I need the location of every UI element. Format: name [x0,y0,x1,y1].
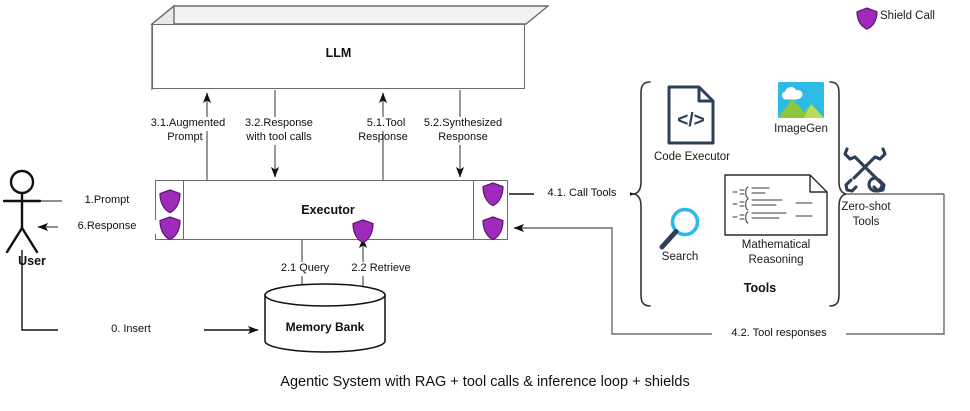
flow-label-tool-response-line2: Response [347,131,419,145]
flow-label-insert: 0. Insert [58,323,204,337]
memory-bank-node: Memory Bank [265,284,385,350]
legend: Shield Call [856,6,966,30]
image-gen-label: ImageGen [758,122,844,136]
crossed-wrenches-icon [836,140,894,196]
flow-label-synthesized-response-line2: Response [414,131,512,145]
formula-document-icon [724,174,828,236]
diagram-canvas: LLM Executor Memory Bank User 1.Prompt 6… [0,0,970,411]
user-label: User [0,254,64,268]
flow-label-response-tool-calls-line2: with tool calls [232,131,326,145]
flow-label-augmented-prompt-line2: Prompt [140,131,230,145]
diagram-caption: Agentic System with RAG + tool calls & i… [0,374,970,390]
shield-icon-executor-right-top [483,183,503,206]
zero-shot-label-line2: Tools [826,215,906,229]
memory-bank-label: Memory Bank [265,320,385,334]
magnifier-icon [658,206,702,252]
flow-label-response-tool-calls-line1: 3.2.Response [232,117,326,131]
flow-label-synthesized-response-line1: 5.2.Synthesized [414,117,512,131]
tools-group: </> Code Executor ImageGen Search [636,78,876,308]
flow-label-retrieve: 2.2 Retrieve [332,262,430,276]
math-reasoning-label-line2: Reasoning [714,253,838,267]
flow-label-tool-responses: 4.2. Tool responses [712,327,846,341]
code-document-icon: </> [666,84,716,146]
flow-label-response: 6.Response [58,220,156,234]
flow-label-prompt: 1.Prompt [62,194,152,208]
svg-text:</>: </> [677,110,704,131]
legend-label: Shield Call [880,10,935,22]
flow-label-call-tools: 4.1. Call Tools [534,187,630,201]
shield-icon-executor-left-top [160,190,180,213]
shield-icon-executor-right-bottom [483,217,503,240]
shield-icon-legend [856,6,878,30]
shield-icon-executor-bottom-center [353,220,373,243]
shield-icon-executor-left-bottom [160,217,180,240]
image-picture-icon [778,82,824,118]
tools-group-label: Tools [700,281,820,295]
math-reasoning-label-line1: Mathematical [714,238,838,252]
search-label: Search [642,250,718,264]
code-executor-label: Code Executor [634,150,750,164]
zero-shot-label-line1: Zero-shot [826,200,906,214]
flow-label-augmented-prompt-line1: 3.1.Augmented [140,117,236,131]
